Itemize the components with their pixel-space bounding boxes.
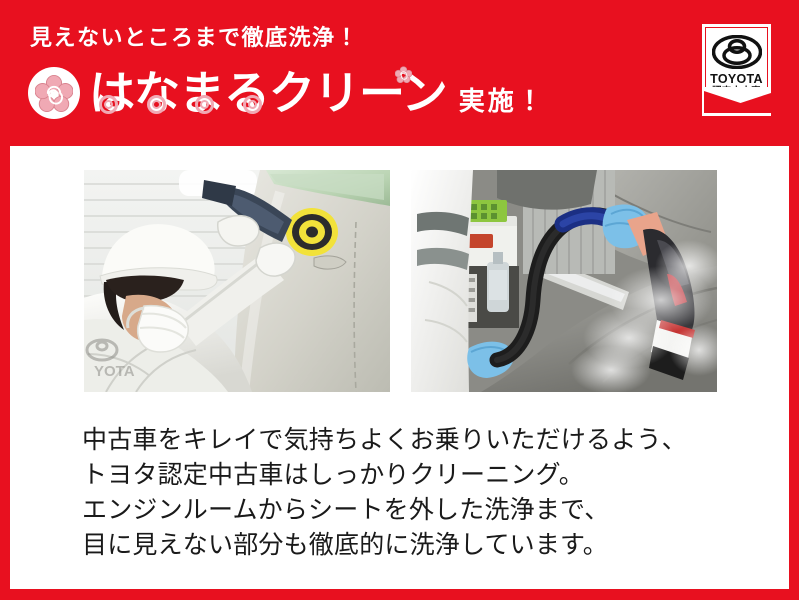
flower-petals-icon bbox=[35, 74, 73, 112]
toyota-brand-text: TOYOTA bbox=[706, 73, 767, 86]
body-copy-line-2: トヨタ認定中古車はしっかりクリーニング。 bbox=[82, 458, 742, 493]
header-banner: 見えないところまで徹底洗浄！ はなまるクリーン 実施！ bbox=[0, 0, 799, 141]
wordmark-spiral-inner-1 bbox=[104, 100, 113, 109]
badge-inner-frame: TOYOTA 認定中古車 bbox=[705, 27, 768, 113]
hanamaru-logo-lockup: はなまるクリーン 実施！ bbox=[28, 62, 546, 124]
hanamaru-flower-accent-icon bbox=[395, 66, 412, 83]
wordmark-spiral-inner-2 bbox=[152, 100, 161, 109]
hanamaru-flower-icon bbox=[28, 67, 80, 119]
wordmark-spiral-inner-3 bbox=[200, 100, 209, 109]
svg-text:YOTA: YOTA bbox=[94, 363, 135, 380]
brand-wordmark: はなまるクリーン bbox=[89, 70, 447, 116]
brand-suffix-text: 実施！ bbox=[459, 81, 546, 124]
badge-red-chevron-icon bbox=[704, 87, 773, 113]
body-copy-line-4: 目に見えない部分も徹底的に洗浄しています。 bbox=[82, 528, 742, 563]
wordmark-spiral-inner-4 bbox=[248, 100, 257, 109]
promo-poster: 見えないところまで徹底洗浄！ はなまるクリーン 実施！ bbox=[0, 0, 799, 600]
toyota-ellipse-logo-icon bbox=[712, 35, 762, 69]
photo-steam-cleaning bbox=[411, 170, 717, 392]
photo-gallery: YOTA bbox=[84, 170, 717, 392]
content-card: YOTA bbox=[10, 146, 789, 589]
seat-steam-cleaning-illustration bbox=[411, 170, 717, 392]
headline-text: 見えないところまで徹底洗浄！ bbox=[30, 27, 359, 49]
toyota-certified-badge: TOYOTA 認定中古車 bbox=[700, 22, 773, 118]
body-copy: 中古車をキレイで気持ちよくお乗りいただけるよう、 トヨタ認定中古車はしっかりクリ… bbox=[82, 423, 742, 563]
body-copy-line-1: 中古車をキレイで気持ちよくお乗りいただけるよう、 bbox=[82, 423, 742, 458]
body-copy-line-3: エンジンルームからシートを外した洗浄まで、 bbox=[82, 493, 742, 528]
car-polishing-illustration: YOTA bbox=[84, 170, 390, 392]
photo-polishing: YOTA bbox=[84, 170, 390, 392]
